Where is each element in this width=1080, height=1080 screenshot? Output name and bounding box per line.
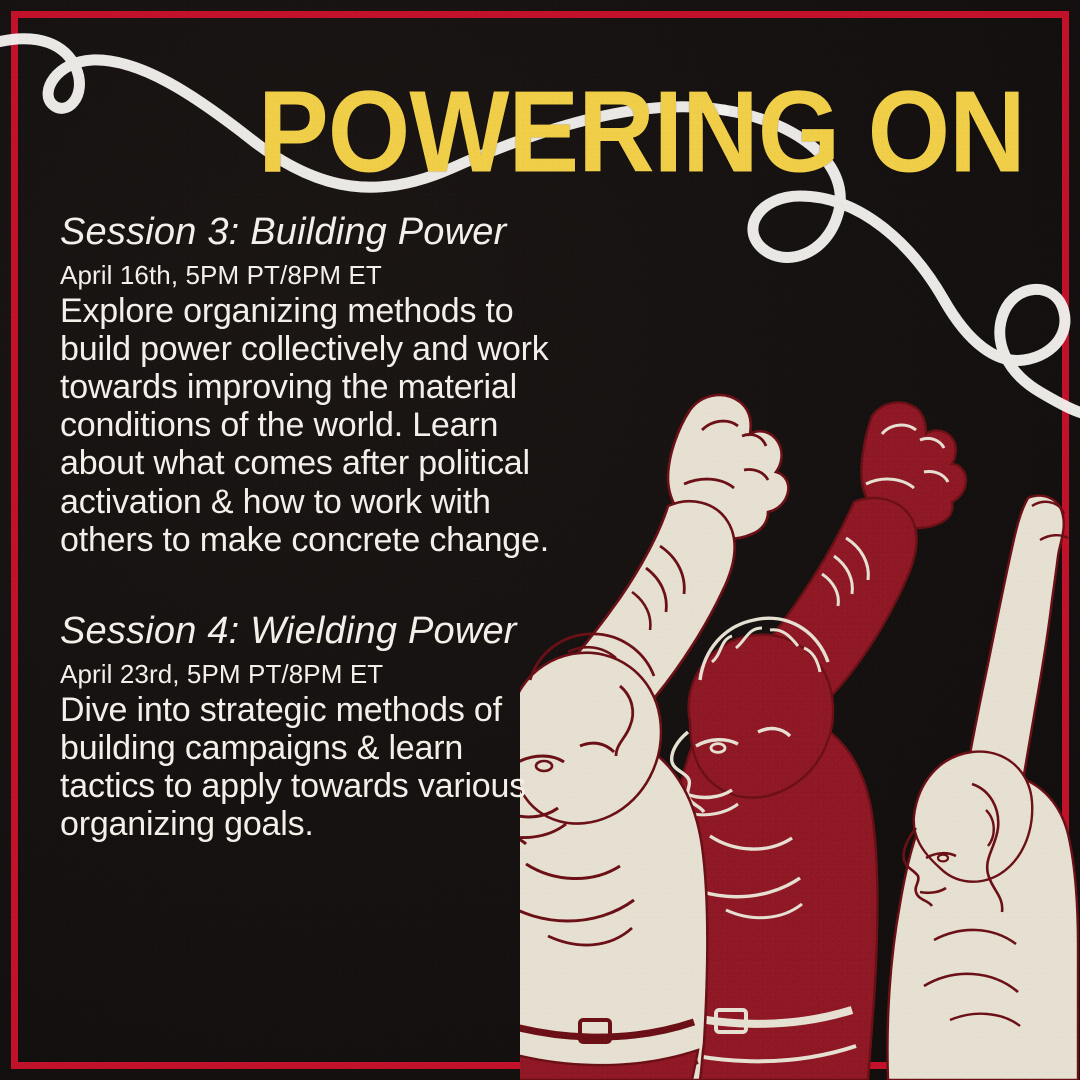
session-4-date: April 23rd, 5PM PT/8PM ET	[60, 659, 560, 691]
session-3-body: Explore organizing methods to build powe…	[60, 292, 560, 559]
session-3-date: April 16th, 5PM PT/8PM ET	[60, 260, 560, 292]
session-4-body: Dive into strategic methods of building …	[60, 691, 560, 843]
session-block-4: Session 4: Wielding Power April 23rd, 5P…	[60, 605, 560, 843]
poster-canvas: POWERING ON	[0, 0, 1080, 1080]
session-block-3: Session 3: Building Power April 16th, 5P…	[60, 206, 560, 559]
session-copy-column: Session 3: Building Power April 16th, 5P…	[60, 206, 560, 843]
session-3-heading: Session 3: Building Power	[60, 206, 560, 258]
session-4-heading: Session 4: Wielding Power	[60, 605, 560, 657]
page-title: POWERING ON	[258, 74, 1025, 190]
